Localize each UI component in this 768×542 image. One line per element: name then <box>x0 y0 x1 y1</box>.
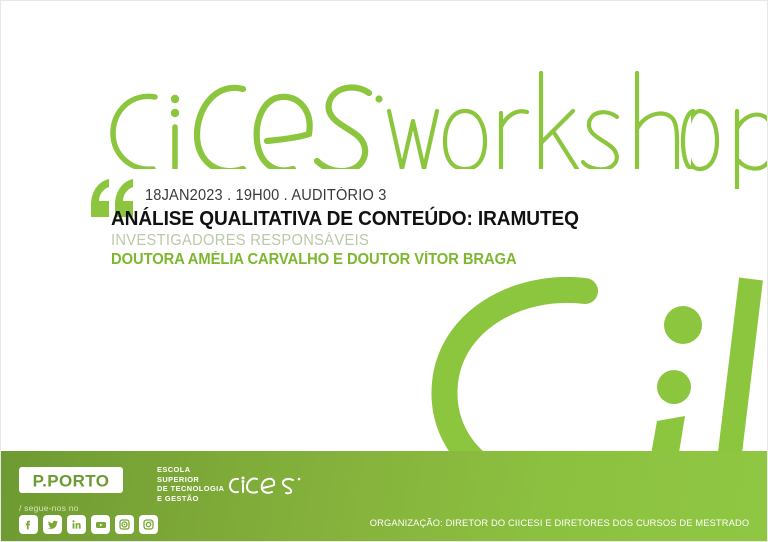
cices-footer-logo <box>229 471 307 495</box>
school-name-block: ESCOLA SUPERIOR DE TECNOLOGIA E GESTÃO <box>157 465 224 503</box>
school-line-2: SUPERIOR <box>157 475 224 485</box>
organization-credit: ORGANIZAÇÃO: DIRETOR DO CIICESI E DIRETO… <box>370 518 749 529</box>
footer-bar: P.PORTO ESCOLA SUPERIOR DE TECNOLOGIA E … <box>1 451 767 541</box>
linkedin-icon[interactable] <box>67 515 86 534</box>
event-title: ANÁLISE QUALITATIVA DE CONTEÚDO: IRAMUTE… <box>111 207 650 231</box>
cices-watermark-graphic <box>399 277 768 461</box>
responsible-researchers-label: INVESTIGADORES RESPONSÁVEIS <box>111 232 662 250</box>
school-line-3: DE TECNOLOGIA <box>157 484 224 494</box>
twitter-icon[interactable] <box>43 515 62 534</box>
facebook-icon[interactable] <box>19 515 38 534</box>
event-text-lines: 18JAN2023 . 19H00 . AUDITÓRIO 3 ANÁLISE … <box>111 187 691 269</box>
svg-text:P.PORTO: P.PORTO <box>33 472 110 491</box>
school-line-1: ESCOLA <box>157 465 224 475</box>
event-poster: 18JAN2023 . 19H00 . AUDITÓRIO 3 ANÁLISE … <box>0 0 768 542</box>
instagram-icon[interactable] <box>139 515 158 534</box>
cices-workshop-logo <box>97 49 697 169</box>
youtube-icon[interactable] <box>91 515 110 534</box>
social-links[interactable] <box>19 515 158 534</box>
follow-us-label: / segue-nos no <box>19 503 79 513</box>
event-date-time-location: 18JAN2023 . 19H00 . AUDITÓRIO 3 <box>145 187 658 205</box>
school-line-4: E GESTÃO <box>157 494 224 504</box>
logo-tail <box>691 49 768 189</box>
flickr-icon[interactable] <box>115 515 134 534</box>
pporto-logo: P.PORTO <box>19 467 123 493</box>
presenter-names: DOUTORA AMÉLIA CARVALHO E DOUTOR VÍTOR B… <box>111 251 662 269</box>
